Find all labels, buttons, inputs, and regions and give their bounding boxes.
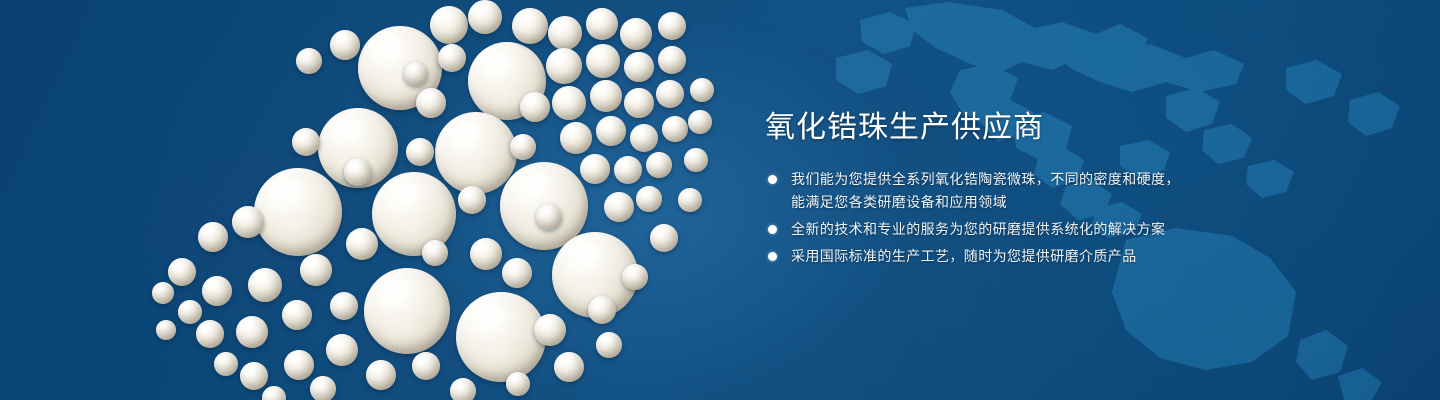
bullet-item: 全新的技术和专业的服务为您的研磨提供系统化的解决方案 <box>765 218 1325 241</box>
bullet-line: 采用国际标准的生产工艺，随时为您提供研磨介质产品 <box>791 245 1325 268</box>
bullet-item: 采用国际标准的生产工艺，随时为您提供研磨介质产品 <box>765 245 1325 268</box>
bullet-line: 能满足您各类研磨设备和应用领域 <box>791 191 1325 214</box>
bullet-dot-icon <box>768 225 777 234</box>
bullet-dot-icon <box>768 175 777 184</box>
zirconia-beads-image <box>0 0 760 400</box>
banner-bullet-list: 我们能为您提供全系列氧化锆陶瓷微珠，不同的密度和硬度， 能满足您各类研磨设备和应… <box>765 168 1325 268</box>
banner-headline: 氧化锆珠生产供应商 <box>765 108 1325 148</box>
hero-banner: 氧化锆珠生产供应商 我们能为您提供全系列氧化锆陶瓷微珠，不同的密度和硬度， 能满… <box>0 0 1440 400</box>
banner-copy: 氧化锆珠生产供应商 我们能为您提供全系列氧化锆陶瓷微珠，不同的密度和硬度， 能满… <box>765 108 1325 272</box>
bullet-line: 全新的技术和专业的服务为您的研磨提供系统化的解决方案 <box>791 218 1325 241</box>
bullet-item: 我们能为您提供全系列氧化锆陶瓷微珠，不同的密度和硬度， 能满足您各类研磨设备和应… <box>765 168 1325 214</box>
bullet-line: 我们能为您提供全系列氧化锆陶瓷微珠，不同的密度和硬度， <box>791 168 1325 191</box>
bullet-dot-icon <box>768 252 777 261</box>
